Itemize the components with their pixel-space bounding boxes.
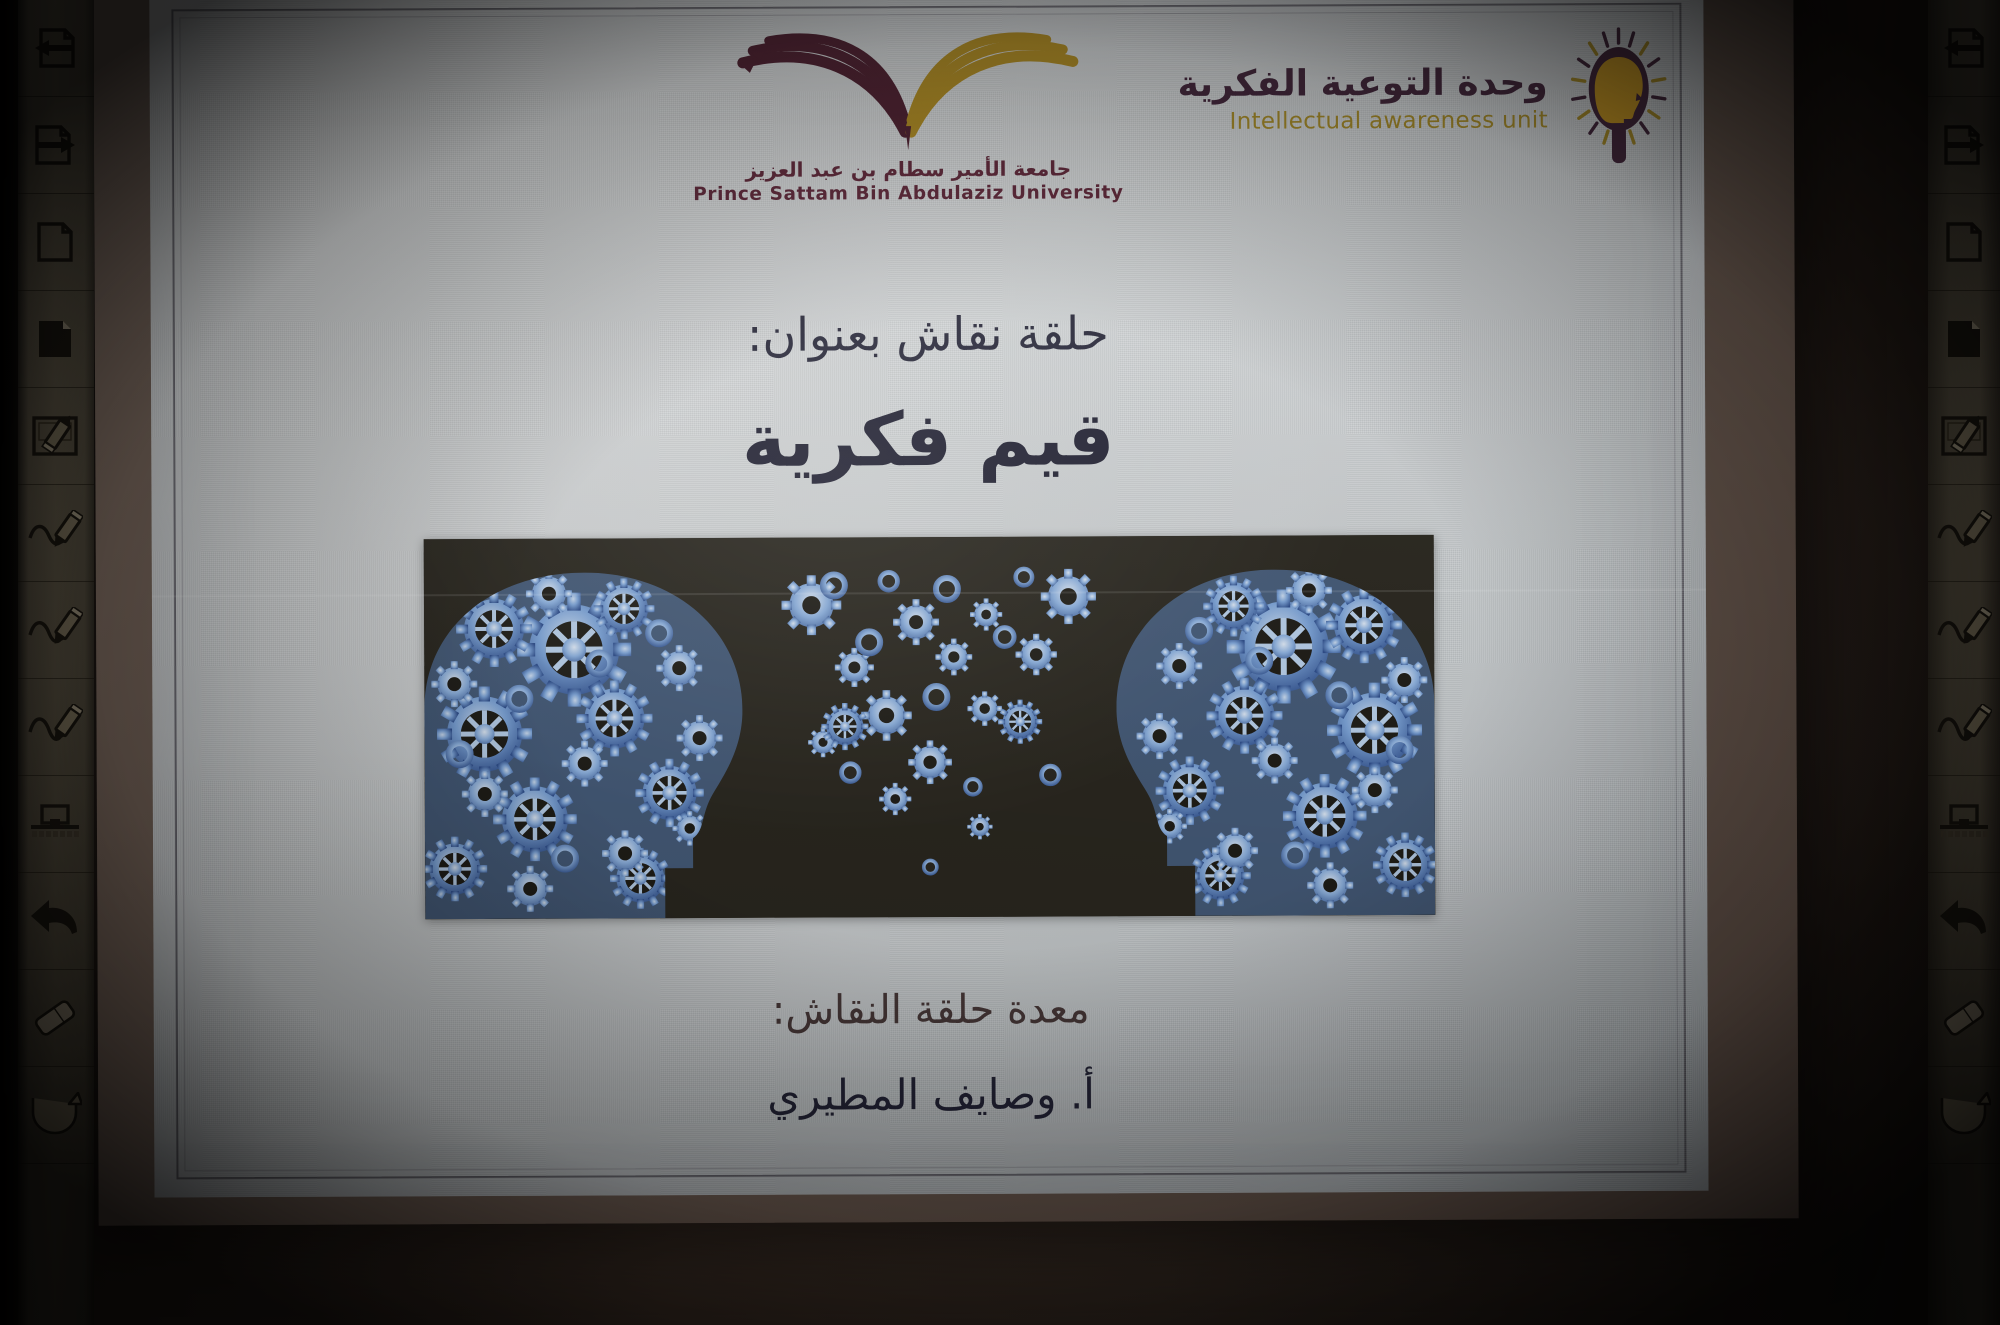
select-pen-box-icon — [30, 413, 80, 459]
keyboard-icon — [28, 803, 82, 845]
slide-subtitle: حلقة نقاش بعنوان: — [151, 304, 1705, 365]
new-page-icon — [32, 219, 78, 265]
two-heads-made-of-gears-image — [424, 535, 1436, 919]
eraser-button[interactable] — [16, 970, 94, 1067]
university-logo: جامعة الأمير سطام بن عبد العزيز Prince S… — [673, 13, 1144, 205]
pen-medium-button[interactable] — [16, 582, 94, 679]
pen-thin-button-right[interactable] — [1928, 485, 2000, 582]
unit-name-arabic: وحدة التوعية الفكرية — [1178, 64, 1548, 105]
pen-thick-icon — [1936, 704, 1992, 750]
undo-icon — [28, 898, 82, 944]
undo-button[interactable] — [16, 873, 94, 970]
previous-page-button-right[interactable] — [1928, 0, 2000, 97]
credit-name: أ. وصايف المطيري — [154, 1067, 1708, 1123]
filled-page-icon — [32, 316, 78, 362]
filled-page-button-right[interactable] — [1928, 291, 2000, 388]
next-page-icon — [1941, 122, 1987, 168]
undo-button-right[interactable] — [1928, 873, 2000, 970]
filled-page-icon — [1941, 316, 1987, 362]
left-dark-edge — [0, 0, 18, 1325]
pen-thin-icon — [1936, 510, 1992, 556]
pen-thick-icon — [27, 704, 83, 750]
pen-settings-button-right[interactable] — [1928, 388, 2000, 485]
university-name-arabic: جامعة الأمير سطام بن عبد العزيز — [673, 157, 1143, 182]
select-pen-box-icon — [1939, 413, 1989, 459]
whiteboard-tools-left — [16, 0, 94, 1325]
pen-thin-icon — [27, 510, 83, 556]
previous-page-button[interactable] — [16, 0, 94, 97]
next-page-button[interactable] — [16, 97, 94, 194]
slide-header-logos: جامعة الأمير سطام بن عبد العزيز Prince S… — [149, 0, 1704, 205]
pen-medium-icon — [27, 607, 83, 653]
redo-icon — [1937, 1092, 1991, 1138]
eraser-button-right[interactable] — [1928, 970, 2000, 1067]
undo-icon — [1937, 898, 1991, 944]
interactive-whiteboard[interactable]: جامعة الأمير سطام بن عبد العزيز Prince S… — [93, 0, 1798, 1226]
eraser-icon — [29, 996, 81, 1040]
filled-page-button[interactable] — [16, 291, 94, 388]
university-name-english: Prince Sattam Bin Abdulaziz University — [673, 182, 1143, 205]
illuminated-head-mirror-logo — [1563, 23, 1674, 173]
pen-medium-icon — [1936, 607, 1992, 653]
new-page-button-right[interactable] — [1928, 194, 2000, 291]
pen-thin-button[interactable] — [16, 485, 94, 582]
redo-button-right[interactable] — [1928, 1067, 2000, 1164]
redo-button[interactable] — [16, 1067, 94, 1164]
keyboard-button[interactable] — [16, 776, 94, 873]
open-book-logo — [723, 13, 1094, 155]
eraser-icon — [1938, 996, 1990, 1040]
pen-settings-button[interactable] — [16, 388, 94, 485]
intellectual-awareness-unit-logo: وحدة التوعية الفكرية Intellectual awaren… — [1177, 23, 1674, 175]
pen-thick-button[interactable] — [16, 679, 94, 776]
keyboard-icon — [1937, 803, 1991, 845]
credit-label: معدة حلقة النقاش: — [154, 984, 1708, 1037]
new-page-button[interactable] — [16, 194, 94, 291]
next-page-icon — [32, 122, 78, 168]
gears-heads-illustration — [424, 535, 1436, 919]
next-page-button-right[interactable] — [1928, 97, 2000, 194]
projected-whiteboard-screenshot: جامعة الأمير سطام بن عبد العزيز Prince S… — [0, 0, 2000, 1325]
previous-page-icon — [1941, 25, 1987, 71]
whiteboard-tools-right — [1928, 0, 2000, 1325]
pen-thick-button-right[interactable] — [1928, 679, 2000, 776]
new-page-icon — [1941, 219, 1987, 265]
previous-page-icon — [32, 25, 78, 71]
pen-medium-button-right[interactable] — [1928, 582, 2000, 679]
slide-title: قيم فكرية — [151, 394, 1705, 487]
presentation-slide[interactable]: جامعة الأمير سطام بن عبد العزيز Prince S… — [149, 0, 1708, 1197]
keyboard-button-right[interactable] — [1928, 776, 2000, 873]
unit-name-english: Intellectual awareness unit — [1178, 107, 1548, 135]
redo-icon — [28, 1092, 82, 1138]
